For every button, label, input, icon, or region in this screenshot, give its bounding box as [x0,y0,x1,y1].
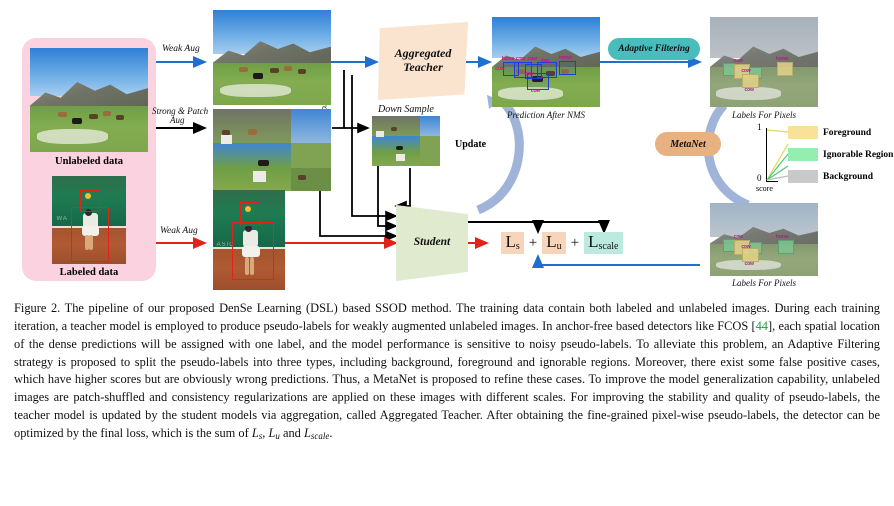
detection-label-cow-d: cow [524,71,533,77]
caption-math-ls-base: L [252,426,259,440]
legend-label-foreground: Foreground [823,128,871,138]
loss-plus-2: + [566,235,584,252]
legend-label-background: Background [823,172,873,182]
caption-and: and [280,426,304,440]
loss-term-lu: Lu [542,232,565,254]
pixel-label-cow-d: cow [734,234,743,240]
pixel-label-cow-e: cow [741,244,750,250]
detection-label-horse-a: horse [502,56,515,62]
legend-swatch-ignorable-region [788,148,818,161]
labeled-data-label: Labeled data [30,267,148,278]
legend: 1 0 score Foreground Ignorable Region Ba… [752,124,892,196]
loss-term-ls: Ls [501,232,523,254]
labels-for-pixels-bottom-image: cow cow cow horse [710,203,818,276]
unlabeled-data-label: Unlabeled data [30,156,148,167]
weak-augmented-labeled-image: ASIC [213,190,285,290]
legend-item-background: Background [788,170,873,183]
detection-label-dog: dog [541,58,550,64]
caption-figure-label: Figure 2. [14,301,60,315]
prediction-after-nms-image: horse cow cow dog horse cow cow cow [492,17,600,107]
down-sample-label: Down Sample [378,104,434,115]
legend-item-foreground: Foreground [788,126,871,139]
teacher-label-line1: Aggregated [395,47,452,61]
loss-equation: Ls + Lu + Lscale [487,230,637,256]
unlabeled-data-image [30,48,148,152]
labels-for-pixels-top-caption: Labels For Pixels [710,110,818,120]
pixel-label-cow-f: cow [745,261,754,267]
pixel-label-cow-b: cow [741,68,750,74]
caption-period: . [329,426,332,440]
caption-part-1: The pipeline of our proposed DenSe Learn… [14,301,880,333]
teacher-label-line2: Teacher [395,61,452,75]
caption-part-2: ], each spatial location of the dense pr… [14,319,880,440]
adaptive-filtering-label: Adaptive Filtering [618,44,690,54]
detection-label-horse-b: horse [559,55,572,61]
update-label: Update [455,139,486,150]
weak-aug-bottom-label: Weak Aug [160,226,198,236]
aggregated-teacher-block[interactable]: Aggregated Teacher [378,22,468,100]
detection-label-cow-e: cow [531,88,540,94]
adaptive-filtering-block[interactable]: Adaptive Filtering [608,38,700,60]
pixel-label-horse: horse [776,56,789,62]
loss-term-lscale: Lscale [584,232,622,254]
legend-item-ignorable: Ignorable Region [788,148,893,161]
pixel-label-cow-a: cow [734,58,743,64]
figure-caption: Figure 2. The pipeline of our proposed D… [14,300,880,443]
caption-citation-44[interactable]: 44 [756,319,768,333]
pixel-label-cow-c: cow [745,87,754,93]
detection-label-cow-b: cow [528,56,537,62]
caption-math-lscale-base: L [304,426,311,440]
detection-label-cow-a: cow [516,56,525,62]
figure-diagram: Unlabeled data WA Labeled data Weak Aug … [0,0,894,292]
prediction-after-nms-caption: Prediction After NMS [492,110,600,120]
loss-plus-1: + [524,235,542,252]
caption-math-lscale-sub: scale [311,431,330,441]
pixel-label-horse-b: horse [776,234,789,240]
metanet-label: MetaNet [670,139,706,150]
labels-for-pixels-bottom-caption: Labels For Pixels [710,278,818,288]
legend-swatch-foreground [788,126,818,139]
student-label: Student [414,236,450,249]
metanet-block[interactable]: MetaNet [655,132,721,156]
legend-label-ignorable-region: Ignorable Region [823,150,893,160]
weak-aug-top-label: Weak Aug [162,44,200,54]
labels-for-pixels-top-image: cow cow cow horse [710,17,818,107]
strong-patch-aug-label-line2: Aug [170,115,185,125]
legend-swatch-background [788,170,818,183]
patch-shuffled-image [213,109,331,191]
weak-augmented-unlabeled-image [213,10,331,105]
student-block[interactable]: Student [396,205,468,281]
detection-label-cow-c: cow [495,66,504,72]
down-sampled-image [372,116,440,166]
labeled-data-image: WA [52,176,126,264]
